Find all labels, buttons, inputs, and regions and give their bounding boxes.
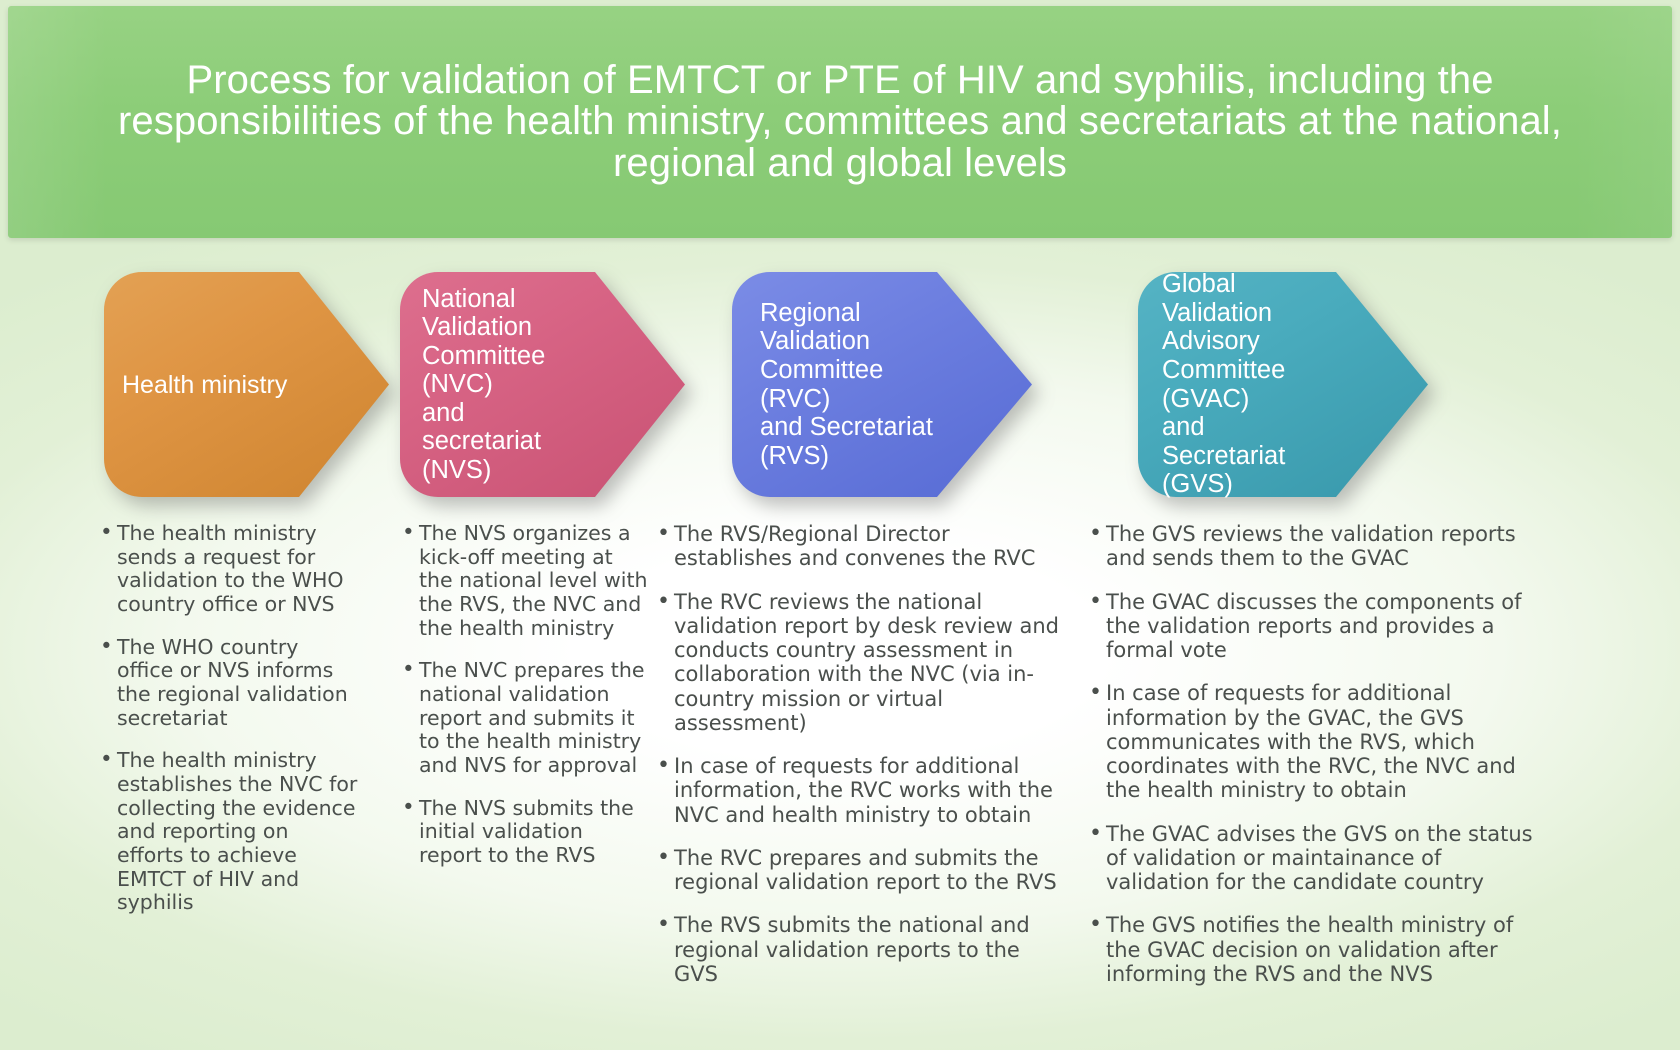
- bullet-column-national-validation-committee: The NVS organizes a kick-off meeting at …: [400, 522, 650, 887]
- list-item: The GVAC advises the GVS on the status o…: [1087, 822, 1547, 895]
- list-item: The NVC prepares the national validation…: [400, 659, 650, 777]
- stage-arrow-label: Health ministry: [104, 371, 383, 399]
- list-item: The NVS organizes a kick-off meeting at …: [400, 522, 650, 640]
- list-item: The NVS submits the initial validation r…: [400, 797, 650, 868]
- title-banner: Process for validation of EMTCT or PTE o…: [8, 6, 1672, 238]
- list-item: The GVAC discusses the components of the…: [1087, 590, 1547, 663]
- bullet-column-regional-validation-committee: The RVS/Regional Director establishes an…: [655, 522, 1067, 1005]
- list-item: In case of requests for additional infor…: [1087, 681, 1547, 802]
- stage-arrow-label: National Validation Committee (NVC) and …: [400, 285, 685, 485]
- page-title: Process for validation of EMTCT or PTE o…: [98, 60, 1582, 185]
- list-item: The GVS notifies the health ministry of …: [1087, 913, 1547, 986]
- bullet-list: The RVS/Regional Director establishes an…: [655, 522, 1067, 986]
- stage-arrow-label: Regional Validation Committee (RVC) and …: [732, 299, 1032, 470]
- bullet-column-global-validation-advisory-committee: The GVS reviews the validation reports a…: [1087, 522, 1547, 1005]
- stage-arrow-national-validation-committee[interactable]: National Validation Committee (NVC) and …: [400, 272, 685, 497]
- list-item: The GVS reviews the validation reports a…: [1087, 522, 1547, 571]
- list-item: In case of requests for additional infor…: [655, 754, 1067, 827]
- list-item: The health ministry sends a request for …: [98, 522, 358, 617]
- process-stage-arrows: Health ministry National Validation Comm…: [0, 272, 1680, 507]
- list-item: The RVS submits the national and regiona…: [655, 913, 1067, 986]
- stage-arrow-regional-validation-committee[interactable]: Regional Validation Committee (RVC) and …: [732, 272, 1032, 497]
- stage-arrow-global-validation-advisory-committee[interactable]: Global Validation Advisory Committee (GV…: [1138, 272, 1428, 497]
- list-item: The RVC reviews the national validation …: [655, 590, 1067, 736]
- bullet-list: The GVS reviews the validation reports a…: [1087, 522, 1547, 986]
- bullet-column-health-ministry: The health ministry sends a request for …: [98, 522, 358, 934]
- list-item: The health ministry establishes the NVC …: [98, 749, 358, 915]
- stage-arrow-health-ministry[interactable]: Health ministry: [104, 272, 389, 497]
- stage-arrow-label: Global Validation Advisory Committee (GV…: [1138, 270, 1428, 498]
- bullet-list: The NVS organizes a kick-off meeting at …: [400, 522, 650, 868]
- list-item: The RVS/Regional Director establishes an…: [655, 522, 1067, 571]
- stage-detail-columns: The health ministry sends a request for …: [0, 522, 1680, 982]
- list-item: The WHO country office or NVS informs th…: [98, 636, 358, 731]
- bullet-list: The health ministry sends a request for …: [98, 522, 358, 915]
- slide-canvas: Process for validation of EMTCT or PTE o…: [0, 0, 1680, 1050]
- list-item: The RVC prepares and submits the regiona…: [655, 846, 1067, 895]
